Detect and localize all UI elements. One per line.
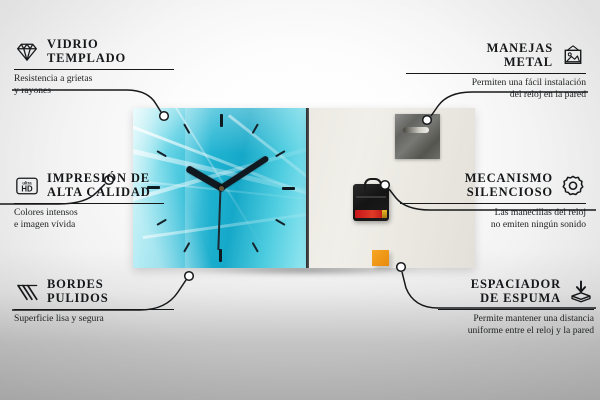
feature-heading: ultra HD IMPRESIÓN DE ALTA CALIDAD <box>14 172 164 199</box>
feature-description: Las manecillas del reloj no emiten ningú… <box>400 207 586 230</box>
feature-description: Permite mantener una distancia uniforme … <box>438 313 594 336</box>
feature-description: Superficie lisa y segura <box>14 313 174 325</box>
clock-minute-hand <box>219 155 269 191</box>
feature-title: MANEJAS METAL <box>487 42 553 69</box>
feature-bordes-pulidos: BORDES PULIDOS Superficie lisa y segura <box>14 278 174 325</box>
infographic-canvas: VIDRIO TEMPLADO Resistencia a grietas y … <box>0 0 600 400</box>
feature-title: VIDRIO TEMPLADO <box>47 38 126 65</box>
mechanism-seam <box>356 196 386 198</box>
feature-title: MECANISMO SILENCIOSO <box>465 172 553 199</box>
feature-manejas-metal: MANEJAS METAL Permiten una fácil instala… <box>406 42 586 101</box>
foam-spacer <box>372 250 389 266</box>
feature-description: Permiten una fácil instalación del reloj… <box>406 77 586 100</box>
feature-heading: ESPACIADOR DE ESPUMA <box>438 278 594 305</box>
feature-heading: MECANISMO SILENCIOSO <box>400 172 586 199</box>
feature-title: BORDES PULIDOS <box>47 278 109 305</box>
hanger-slot <box>403 127 429 133</box>
feature-title: IMPRESIÓN DE ALTA CALIDAD <box>47 172 151 199</box>
feature-divider <box>400 203 586 204</box>
foam-spacer-icon <box>568 279 594 305</box>
feature-description: Resistencia a grietas y rayones <box>14 73 184 96</box>
polished-edges-icon <box>14 279 40 305</box>
feature-vidrio-templado: VIDRIO TEMPLADO Resistencia a grietas y … <box>14 38 184 97</box>
quartz-mechanism <box>353 184 389 221</box>
hd-label: HD <box>21 184 33 193</box>
feature-divider <box>14 309 174 310</box>
feature-mecanismo-silencioso: MECANISMO SILENCIOSO Las manecillas del … <box>400 172 586 231</box>
ultra-hd-icon: ultra HD <box>14 173 40 199</box>
clock-tick <box>220 114 222 188</box>
mechanism-hanger-loop <box>364 178 382 190</box>
feature-title: ESPACIADOR DE ESPUMA <box>471 278 561 305</box>
feature-espaciador-espuma: ESPACIADOR DE ESPUMA Permite mantener un… <box>438 278 594 337</box>
feature-divider <box>438 309 594 310</box>
clock-tick <box>221 187 295 189</box>
feature-heading: VIDRIO TEMPLADO <box>14 38 184 65</box>
feature-divider <box>14 203 164 204</box>
battery-terminal <box>382 210 387 218</box>
metal-hanger-plate <box>395 114 440 159</box>
feature-divider <box>14 69 174 70</box>
gear-icon <box>560 173 586 199</box>
diamond-icon <box>14 39 40 65</box>
clock-hub <box>219 186 224 191</box>
feature-impresion-alta-calidad: ultra HD IMPRESIÓN DE ALTA CALIDAD Color… <box>14 172 164 231</box>
battery <box>355 210 387 218</box>
feature-heading: BORDES PULIDOS <box>14 278 174 305</box>
clock-tick <box>156 187 221 226</box>
feature-description: Colores intensos e imagen vívida <box>14 207 164 230</box>
feature-heading: MANEJAS METAL <box>406 42 586 69</box>
framed-picture-icon <box>560 43 586 69</box>
feature-divider <box>406 73 586 74</box>
